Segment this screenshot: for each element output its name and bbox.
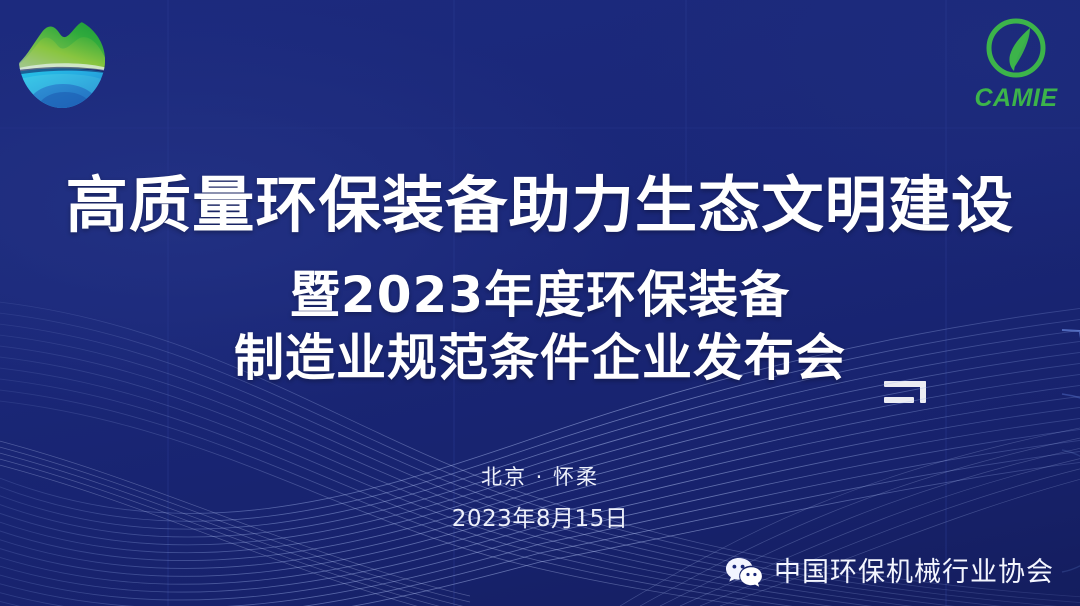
event-date: 2023年8月15日 [0,503,1080,535]
headline-subtitle-group: 暨2023年度环保装备 制造业规范条件企业发布会 [0,264,1080,390]
association-footer: 中国环保机械行业协会 [725,557,1054,588]
conference-banner: CAMIE 高质量环保装备助力生态文明建设 暨2023年度环保装备 制造业规范条… [0,0,1080,606]
wechat-icon [725,557,763,588]
eco-mountain-water-emblem [11,10,113,114]
headline-line-2: 暨2023年度环保装备 [0,264,1080,327]
headline-line-1: 高质量环保装备助力生态文明建设 [0,172,1080,240]
camie-wordmark: CAMIE [974,86,1057,111]
headline-block: 高质量环保装备助力生态文明建设 暨2023年度环保装备 制造业规范条件企业发布会 [0,172,1080,390]
event-meta: 北京 · 怀柔 2023年8月15日 [0,462,1080,535]
event-location: 北京 · 怀柔 [0,462,1080,494]
association-name: 中国环保机械行业协会 [774,559,1054,586]
camie-logo: CAMIE [966,16,1066,126]
headline-line-3: 制造业规范条件企业发布会 [0,327,1080,390]
camie-leaf-circle-icon [982,16,1050,84]
